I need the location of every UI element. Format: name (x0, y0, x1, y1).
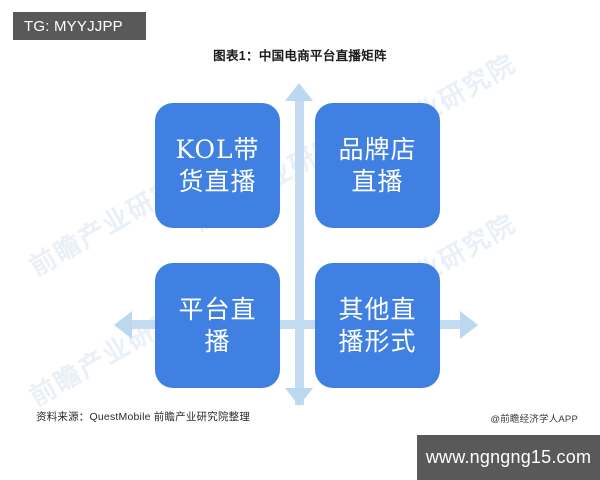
app-credit: @前瞻经济学人APP (490, 411, 578, 425)
page-title: 图表1：中国电商平台直播矩阵 (0, 45, 600, 64)
source-note: 资料来源：QuestMobile 前瞻产业研究院整理 (36, 409, 250, 424)
quadrant-bottom-right: 其他直 播形式 (315, 263, 440, 388)
quadrant-top-left: KOL带 货直播 (155, 103, 280, 228)
arrow-up-icon (285, 83, 313, 101)
arrow-left-icon (114, 311, 132, 339)
arrow-down-icon (285, 388, 313, 406)
vertical-axis-line (295, 95, 304, 405)
tg-handle-badge: TG: MYYJJPP (13, 12, 146, 40)
quadrant-top-right: 品牌店 直播 (315, 103, 440, 228)
quadrant-matrix: KOL带 货直播 品牌店 直播 平台直 播 其他直 播形式 (0, 75, 600, 400)
arrow-right-icon (460, 311, 478, 339)
url-watermark-badge: www.ngngng15.com (417, 435, 600, 480)
quadrant-bottom-left: 平台直 播 (155, 263, 280, 388)
chart-canvas: 前瞻产业研究院 前瞻产业研究院 前瞻产业研究院 前瞻产业研究院 前瞻产业研究院 … (0, 0, 600, 480)
